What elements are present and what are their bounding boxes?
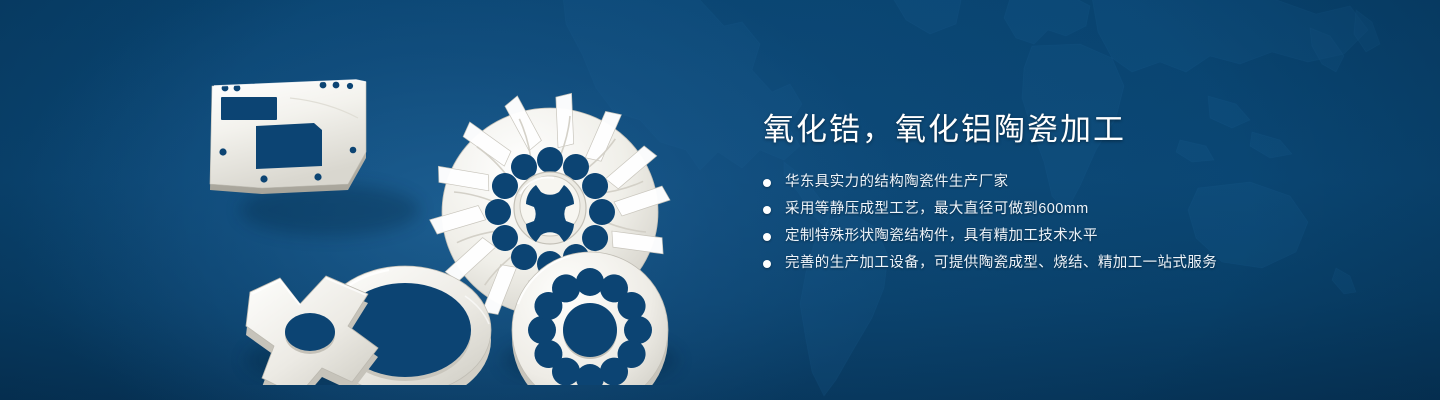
- list-item: 定制特殊形状陶瓷结构件，具有精加工技术水平: [763, 226, 1383, 247]
- banner-copy: 氧化锆，氧化铝陶瓷加工 华东具实力的结构陶瓷件生产厂家 采用等静压成型工艺，最大…: [763, 108, 1383, 280]
- hero-banner: 氧化锆，氧化铝陶瓷加工 华东具实力的结构陶瓷件生产厂家 采用等静压成型工艺，最大…: [0, 0, 1440, 400]
- list-item-label: 定制特殊形状陶瓷结构件，具有精加工技术水平: [785, 226, 1098, 247]
- list-item-label: 完善的生产加工设备，可提供陶瓷成型、烧结、精加工一站式服务: [785, 253, 1217, 274]
- list-item: 采用等静压成型工艺，最大直径可做到600mm: [763, 199, 1383, 220]
- bullet-dot-icon: [763, 206, 771, 214]
- ceramic-products-image: [190, 40, 730, 385]
- list-item: 华东具实力的结构陶瓷件生产厂家: [763, 172, 1383, 193]
- bullet-dot-icon: [763, 179, 771, 187]
- ceramic-mounting-plate-shape: [210, 80, 366, 194]
- bullet-dot-icon: [763, 260, 771, 268]
- bullet-dot-icon: [763, 233, 771, 241]
- list-item-label: 采用等静压成型工艺，最大直径可做到600mm: [785, 199, 1089, 220]
- list-item: 完善的生产加工设备，可提供陶瓷成型、烧结、精加工一站式服务: [763, 253, 1383, 274]
- feature-list: 华东具实力的结构陶瓷件生产厂家 采用等静压成型工艺，最大直径可做到600mm 定…: [763, 172, 1383, 274]
- page-title: 氧化锆，氧化铝陶瓷加工: [763, 108, 1383, 152]
- list-item-label: 华东具实力的结构陶瓷件生产厂家: [785, 172, 1009, 193]
